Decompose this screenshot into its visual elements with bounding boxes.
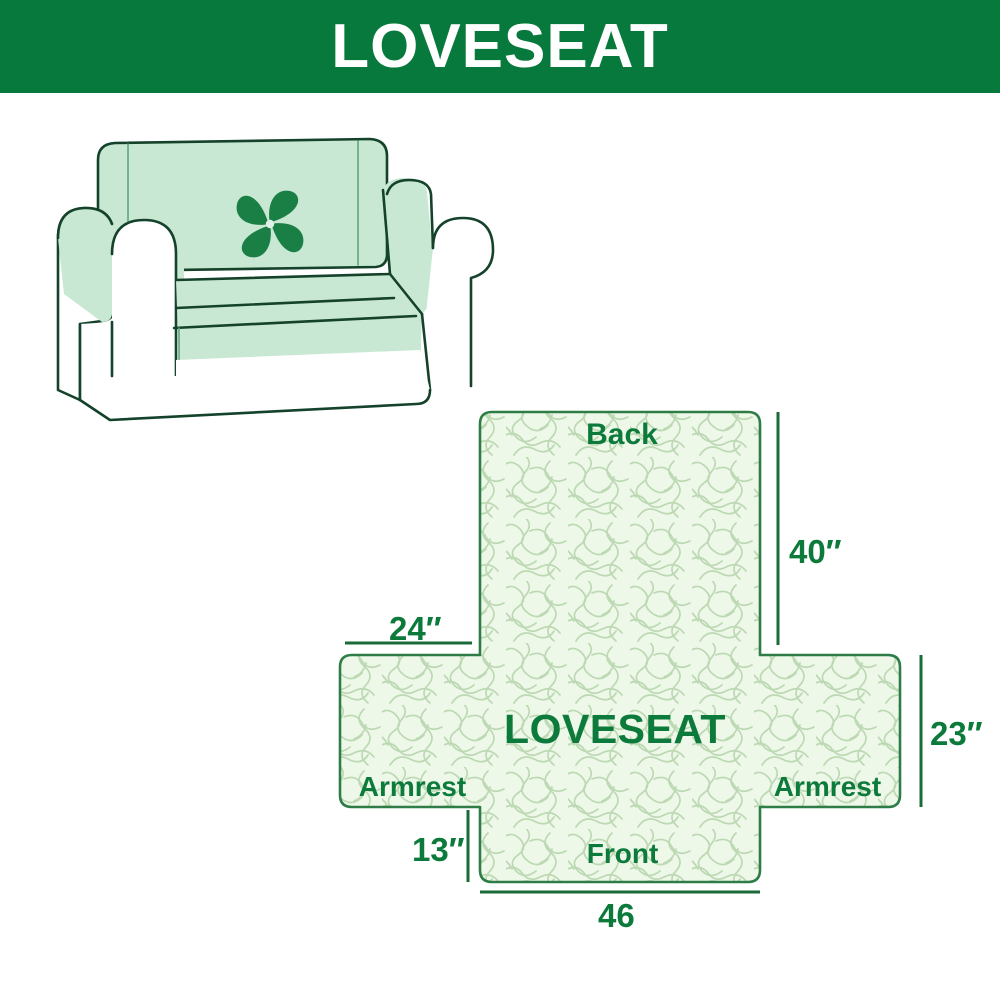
sofa-left-arm-roll [112, 220, 176, 376]
header-banner: LOVESEAT [0, 0, 1000, 93]
panel-label-armrest-left: Armrest [330, 771, 495, 803]
dimension-label-arm-height: 23″ [930, 715, 983, 753]
sofa-right-arm-roll [426, 218, 493, 390]
dimension-label-overall-width: 46 [598, 897, 635, 935]
dimension-label-back-width: 24″ [389, 610, 442, 648]
cover-flat-layout-diagram: .panel { fill:url(#quilt); stroke:#2e7d4… [320, 395, 1000, 955]
dimension-label-back-height: 40″ [789, 533, 842, 571]
page-title: LOVESEAT [0, 0, 1000, 93]
panel-label-center: LOVESEAT [465, 706, 765, 753]
panel-label-front: Front [540, 838, 705, 870]
product-size-diagram-page: LOVESEAT .ln { fill:none; stroke:#14422a… [0, 0, 1000, 1000]
dimension-label-front-height: 13″ [412, 831, 465, 869]
panel-label-back: Back [522, 418, 722, 452]
panel-label-armrest-right: Armrest [745, 771, 910, 803]
cover-flat-layout-svg: .panel { fill:url(#quilt); stroke:#2e7d4… [320, 395, 1000, 955]
